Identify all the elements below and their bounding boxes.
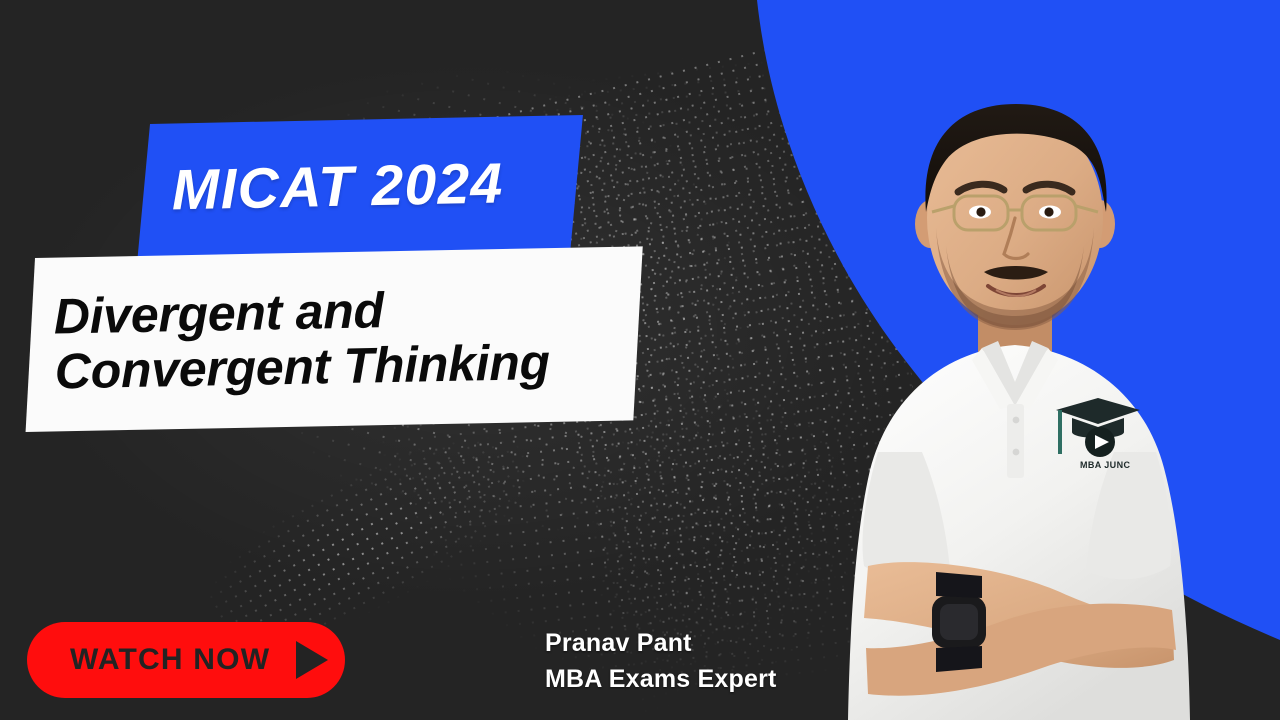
- presenter-caption: Pranav Pant MBA Exams Expert: [545, 625, 777, 698]
- presenter-role: MBA Exams Expert: [545, 661, 777, 697]
- play-triangle-icon: [296, 641, 328, 679]
- presenter-photo: MBA JUNC: [760, 0, 1280, 720]
- watch-now-label: WATCH NOW: [70, 645, 270, 675]
- watch-now-button[interactable]: WATCH NOW: [27, 622, 345, 698]
- page-title: Divergent and Convergent Thinking: [29, 280, 550, 400]
- badge-micat-2024: MICAT 2024: [138, 115, 583, 258]
- badge-label: MICAT 2024: [143, 155, 504, 219]
- svg-text:MBA JUNC: MBA JUNC: [1080, 460, 1130, 470]
- thumbnail-canvas: MBA JUNC: [0, 0, 1280, 720]
- title-panel: Divergent and Convergent Thinking: [26, 246, 643, 432]
- presenter-name: Pranav Pant: [545, 625, 777, 661]
